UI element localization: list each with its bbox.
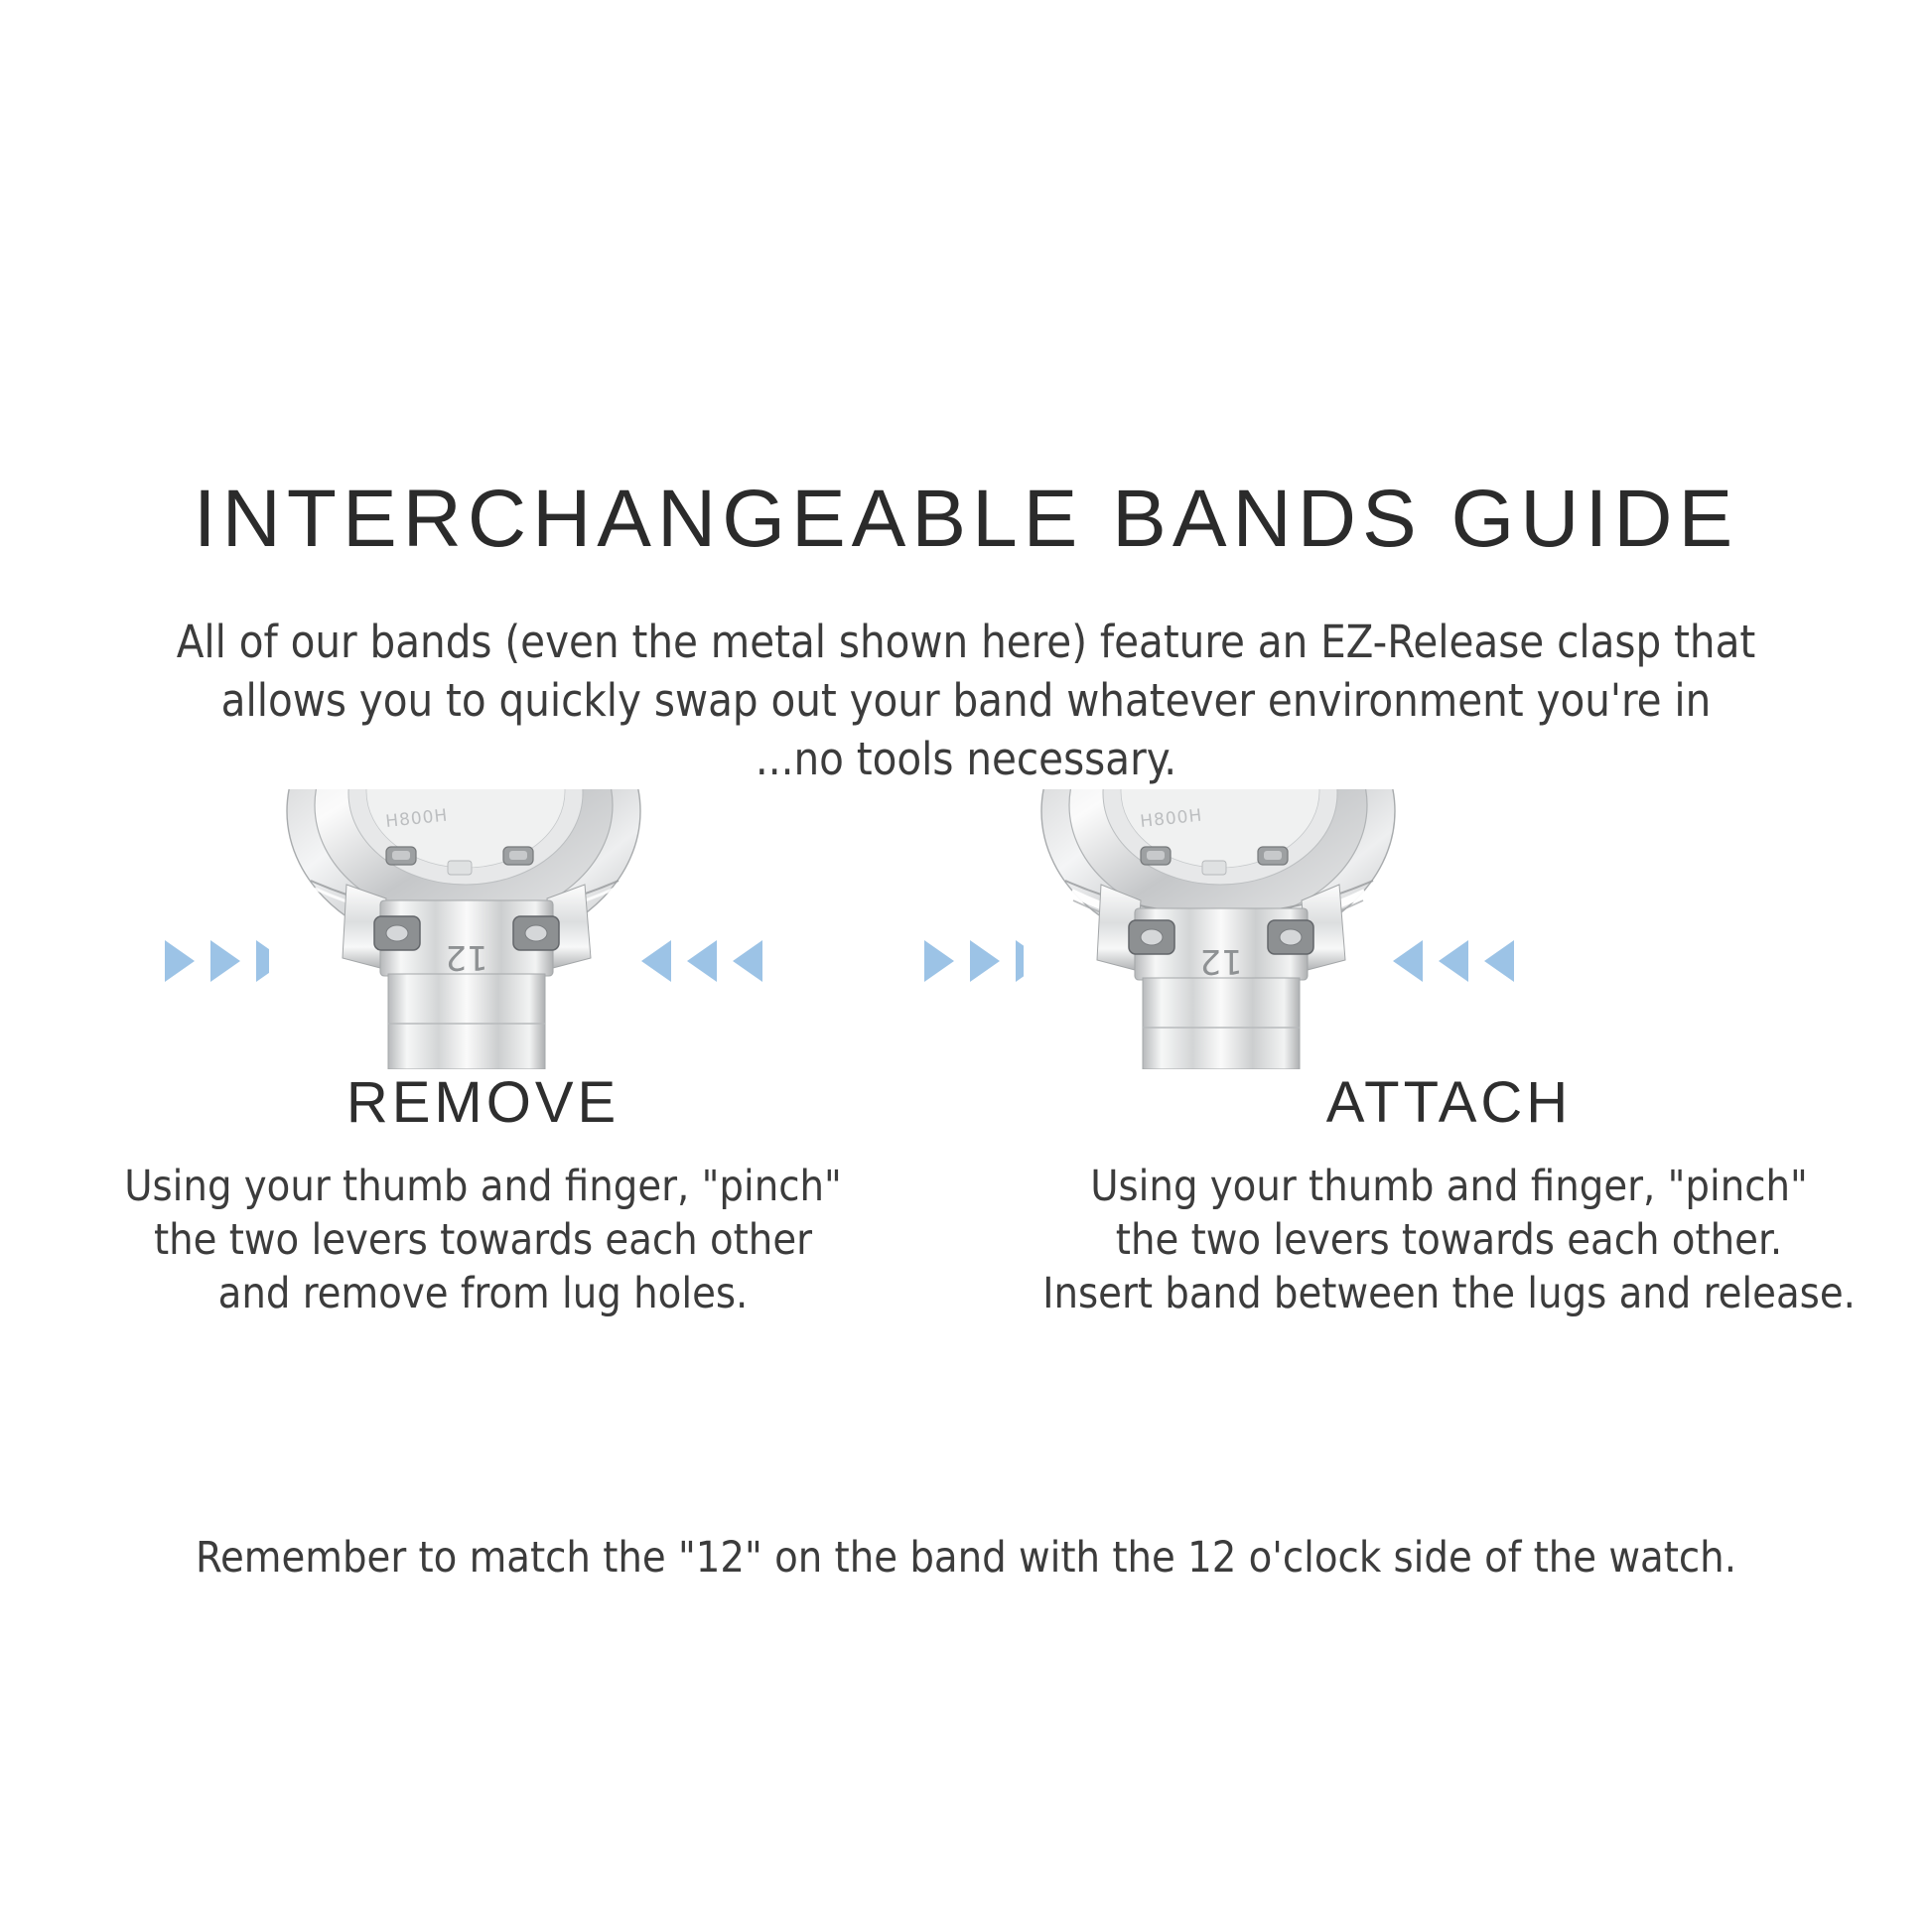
- svg-text:12: 12: [1199, 941, 1242, 981]
- remove-arrows-right: [641, 938, 790, 984]
- step-caption-remove: Using your thumb and finger, "pinch" the…: [36, 1160, 930, 1320]
- remove-caption-line-1: Using your thumb and finger, "pinch": [36, 1160, 930, 1213]
- steps-container: on H800H: [0, 784, 1932, 1340]
- intro-line-1: All of our bands (even the metal shown h…: [172, 613, 1760, 671]
- page-title: INTERCHANGEABLE BANDS GUIDE: [0, 479, 1932, 560]
- arrow-left-icon: [641, 940, 671, 982]
- arrow-right-icon: [165, 940, 195, 982]
- arrow-left-icon: [1439, 940, 1468, 982]
- arrow-left-icon: [1393, 940, 1423, 982]
- remove-arrows-left: [137, 938, 286, 984]
- arrow-right-icon: [924, 940, 954, 982]
- step-panel-remove: on H800H: [0, 784, 966, 1340]
- footer-note: Remember to match the "12" on the band w…: [0, 1530, 1932, 1586]
- remove-caption-line-2: the two levers towards each other: [36, 1213, 930, 1267]
- attach-watch-photo: on H800H: [1024, 789, 1411, 1069]
- attach-caption-line-2: the two levers towards each other.: [1002, 1213, 1896, 1267]
- attach-figure: on H800H: [966, 784, 1932, 1072]
- step-caption-attach: Using your thumb and finger, "pinch" the…: [1002, 1160, 1896, 1320]
- svg-text:12: 12: [445, 937, 487, 977]
- intro-line-3: ...no tools necessary.: [172, 730, 1760, 788]
- infographic-page: INTERCHANGEABLE BANDS GUIDE All of our b…: [0, 0, 1932, 1932]
- remove-caption-line-3: and remove from lug holes.: [36, 1267, 930, 1320]
- step-panel-attach: on H800H: [966, 784, 1932, 1340]
- arrow-left-icon: [1484, 940, 1514, 982]
- remove-figure: on H800H: [0, 784, 966, 1072]
- attach-arrows-right: [1393, 938, 1542, 984]
- attach-caption-line-1: Using your thumb and finger, "pinch": [1002, 1160, 1896, 1213]
- arrow-left-icon: [687, 940, 717, 982]
- step-heading-attach: ATTACH: [966, 1074, 1932, 1132]
- arrow-right-icon: [210, 940, 240, 982]
- step-heading-remove: REMOVE: [0, 1074, 966, 1132]
- arrow-right-icon: [970, 940, 1000, 982]
- intro-line-2: allows you to quickly swap out your band…: [172, 671, 1760, 730]
- arrow-left-icon: [733, 940, 762, 982]
- attach-caption-line-3: Insert band between the lugs and release…: [1002, 1267, 1896, 1320]
- intro-paragraph: All of our bands (even the metal shown h…: [172, 613, 1760, 788]
- remove-watch-photo: on H800H: [269, 789, 656, 1069]
